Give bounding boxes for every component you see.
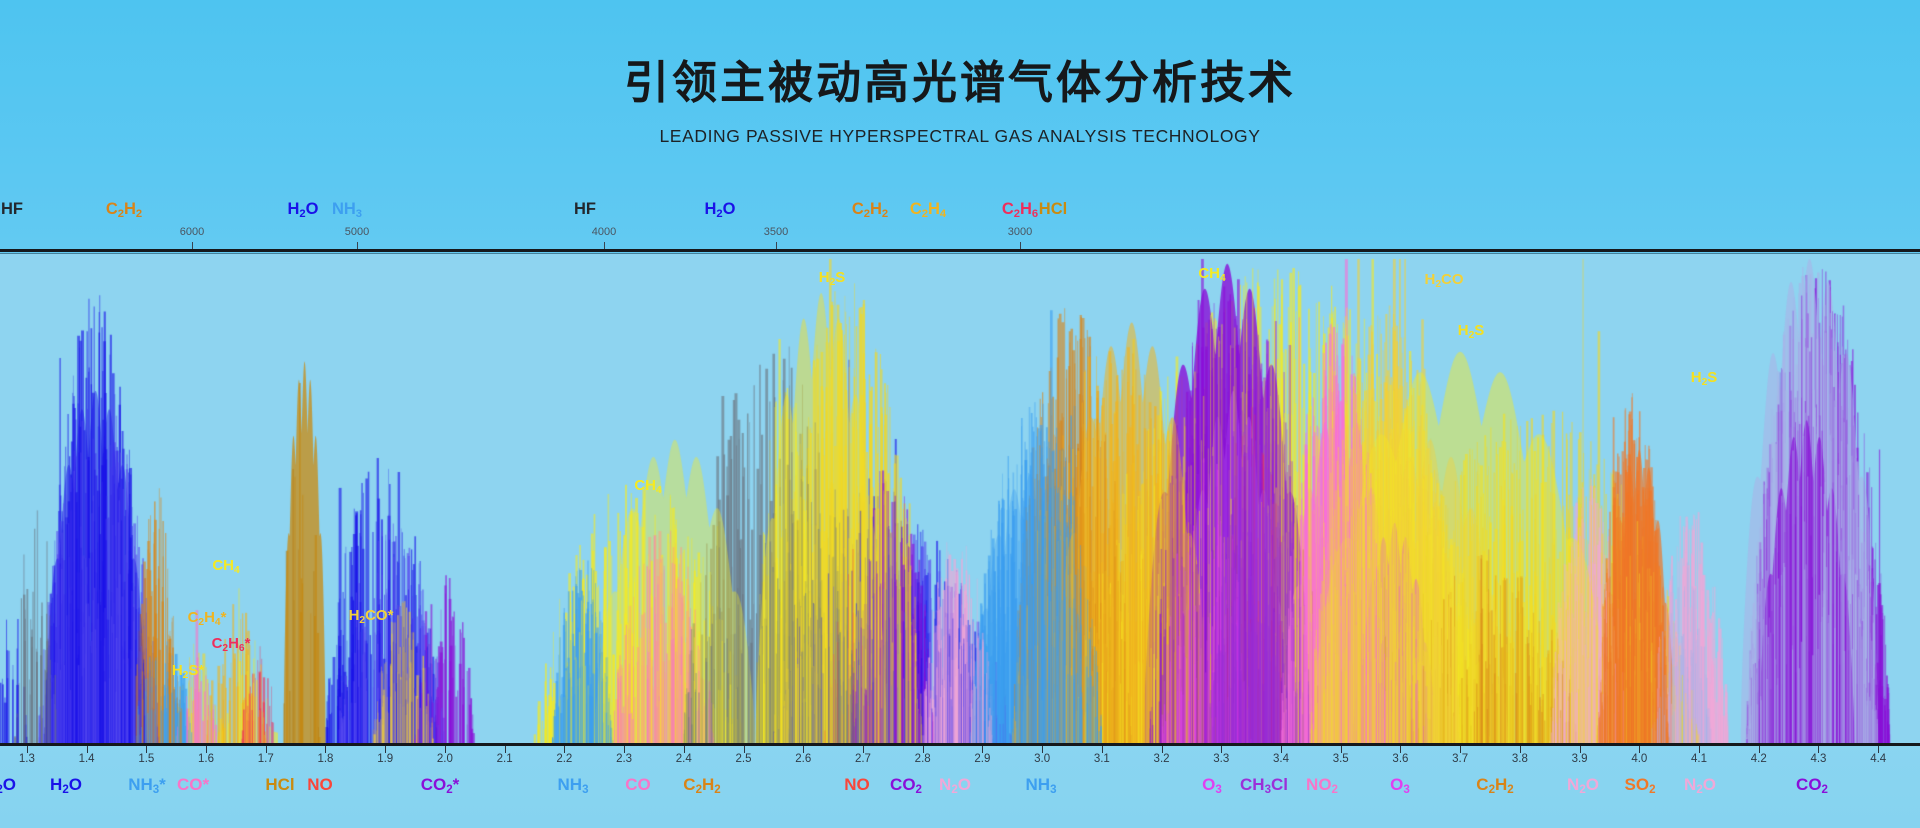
bottom-tick-label: 2.5 — [736, 753, 752, 765]
bottom-tick-label: 1.9 — [377, 753, 393, 765]
top-gas-label-c2h4: C2H4 — [910, 200, 946, 219]
bottom-tick-mark — [206, 746, 207, 753]
bottom-gas-label-h2o: H2O — [0, 775, 16, 795]
bottom-tick-mark — [87, 746, 88, 753]
bottom-gas-label-so2: SO2 — [1625, 775, 1656, 795]
top-tick-label: 6000 — [180, 226, 204, 238]
top-tick-label: 3500 — [764, 226, 788, 238]
bottom-tick-label: 1.7 — [258, 753, 274, 765]
bottom-tick-mark — [1520, 746, 1521, 753]
spectrum-canvas — [0, 254, 1920, 743]
top-tick-label: 5000 — [345, 226, 369, 238]
bottom-tick-label: 2.8 — [915, 753, 931, 765]
header: 引领主被动高光谱气体分析技术 LEADING PASSIVE HYPERSPEC… — [0, 0, 1920, 200]
top-gas-label-c2h2: C2H2 — [852, 200, 888, 219]
bottom-tick-mark — [564, 746, 565, 753]
page-subtitle: LEADING PASSIVE HYPERSPECTRAL GAS ANALYS… — [0, 108, 1920, 147]
bottom-tick-mark — [982, 746, 983, 753]
bottom-gas-label-n2o: N2O — [939, 775, 971, 795]
bottom-tick-label: 2.7 — [855, 753, 871, 765]
bottom-gas-label-n2o: N2O — [1567, 775, 1599, 795]
bottom-tick-mark — [1878, 746, 1879, 753]
bottom-tick-label: 4.2 — [1751, 753, 1767, 765]
bottom-tick-label: 2.3 — [616, 753, 632, 765]
bottom-tick-label: 2.1 — [497, 753, 513, 765]
bottom-tick-label: 3.1 — [1094, 753, 1110, 765]
bottom-tick-mark — [1102, 746, 1103, 753]
top-gas-label-hf: HF — [574, 200, 596, 219]
bottom-tick-label: 3.8 — [1512, 753, 1528, 765]
bottom-gas-label-no: NO — [307, 775, 333, 795]
bottom-axis-ticks: 1.31.41.51.61.71.81.92.02.12.22.32.42.52… — [0, 746, 1920, 772]
bottom-tick-label: 2.0 — [437, 753, 453, 765]
bottom-gas-label-nh3: NH3 — [1026, 775, 1057, 795]
bottom-tick-mark — [266, 746, 267, 753]
bottom-tick-mark — [1281, 746, 1282, 753]
bottom-tick-label: 2.6 — [795, 753, 811, 765]
bottom-tick-label: 1.4 — [79, 753, 95, 765]
bottom-gas-label-no2: NO2 — [1306, 775, 1338, 795]
top-tick-label: 3000 — [1008, 226, 1032, 238]
bottom-gas-label-co: CO* — [177, 775, 209, 795]
bottom-tick-label: 3.0 — [1034, 753, 1050, 765]
bottom-tick-mark — [624, 746, 625, 753]
top-gas-label-c2h2: C2H2 — [106, 200, 142, 219]
bottom-tick-mark — [863, 746, 864, 753]
bottom-tick-mark — [1460, 746, 1461, 753]
bottom-gas-label-nh3: NH3* — [128, 775, 166, 795]
poster-root: 引领主被动高光谱气体分析技术 LEADING PASSIVE HYPERSPEC… — [0, 0, 1920, 828]
bottom-gas-label-co2: CO2 — [1796, 775, 1828, 795]
bottom-tick-mark — [923, 746, 924, 753]
bottom-gas-label-nh3: NH3 — [558, 775, 589, 795]
page-title: 引领主被动高光谱气体分析技术 — [0, 0, 1920, 108]
bottom-tick-label: 1.8 — [317, 753, 333, 765]
bottom-gas-label-co2: CO2* — [421, 775, 460, 795]
spectrum-plot: H2SCH4H2COH2SH2SCH4CH4C2H4*C2H6*H2S*H2CO… — [0, 249, 1920, 743]
bottom-tick-mark — [803, 746, 804, 753]
bottom-tick-mark — [325, 746, 326, 753]
bottom-gas-label-h2o: H2O — [50, 775, 82, 795]
bottom-tick-mark — [1341, 746, 1342, 753]
bottom-tick-mark — [1818, 746, 1819, 753]
bottom-tick-label: 1.6 — [198, 753, 214, 765]
top-gas-label-c2h6: C2H6 — [1002, 200, 1038, 219]
bottom-tick-mark — [1580, 746, 1581, 753]
bottom-gas-label-o3: O3 — [1202, 775, 1222, 795]
bottom-tick-mark — [1042, 746, 1043, 753]
top-gas-label-hf: HF — [1, 200, 23, 219]
bottom-tick-mark — [1162, 746, 1163, 753]
bottom-tick-label: 1.5 — [138, 753, 154, 765]
bottom-gas-label-ch3cl: CH3Cl — [1240, 775, 1288, 795]
bottom-tick-mark — [1699, 746, 1700, 753]
bottom-tick-label: 4.0 — [1631, 753, 1647, 765]
bottom-tick-label: 3.9 — [1572, 753, 1588, 765]
bottom-tick-label: 3.2 — [1154, 753, 1170, 765]
bottom-tick-label: 4.1 — [1691, 753, 1707, 765]
bottom-gas-label-co2: CO2 — [890, 775, 922, 795]
top-tick-label: 4000 — [592, 226, 616, 238]
bottom-tick-label: 2.4 — [676, 753, 692, 765]
bottom-tick-label: 3.3 — [1213, 753, 1229, 765]
bottom-tick-mark — [1759, 746, 1760, 753]
bottom-tick-label: 3.6 — [1392, 753, 1408, 765]
plot-top-rule — [0, 249, 1920, 252]
bottom-gas-label-hcl: HCl — [265, 775, 294, 795]
top-gas-label-h2o: H2O — [704, 200, 735, 219]
bottom-tick-label: 2.2 — [556, 753, 572, 765]
bottom-gas-label-n2o: N2O — [1684, 775, 1716, 795]
bottom-tick-mark — [1400, 746, 1401, 753]
bottom-gas-label-row: H2OH2ONH3*CO*HClNOCO2*NH3COC2H2NOCO2N2ON… — [0, 775, 1920, 815]
bottom-tick-label: 2.9 — [974, 753, 990, 765]
bottom-tick-label: 3.4 — [1273, 753, 1289, 765]
bottom-tick-label: 1.3 — [19, 753, 35, 765]
top-gas-label-nh3: NH3 — [332, 200, 362, 219]
bottom-tick-mark — [684, 746, 685, 753]
bottom-gas-label-co: CO — [625, 775, 651, 795]
top-axis-ticks: 60005000400035003000 — [0, 226, 1920, 250]
bottom-tick-mark — [385, 746, 386, 753]
bottom-gas-label-c2h2: C2H2 — [1476, 775, 1513, 795]
bottom-gas-label-o3: O3 — [1390, 775, 1410, 795]
bottom-tick-mark — [27, 746, 28, 753]
bottom-tick-mark — [1639, 746, 1640, 753]
bottom-gas-label-no: NO — [844, 775, 870, 795]
bottom-tick-label: 4.3 — [1810, 753, 1826, 765]
bottom-tick-mark — [1221, 746, 1222, 753]
top-gas-label-hcl: HCl — [1039, 200, 1067, 219]
bottom-tick-mark — [146, 746, 147, 753]
bottom-gas-label-c2h2: C2H2 — [683, 775, 720, 795]
top-gas-label-h2o: H2O — [287, 200, 318, 219]
bottom-tick-label: 3.5 — [1333, 753, 1349, 765]
bottom-tick-mark — [445, 746, 446, 753]
bottom-tick-mark — [744, 746, 745, 753]
bottom-tick-mark — [505, 746, 506, 753]
bottom-tick-label: 4.4 — [1870, 753, 1886, 765]
bottom-tick-label: 3.7 — [1452, 753, 1468, 765]
